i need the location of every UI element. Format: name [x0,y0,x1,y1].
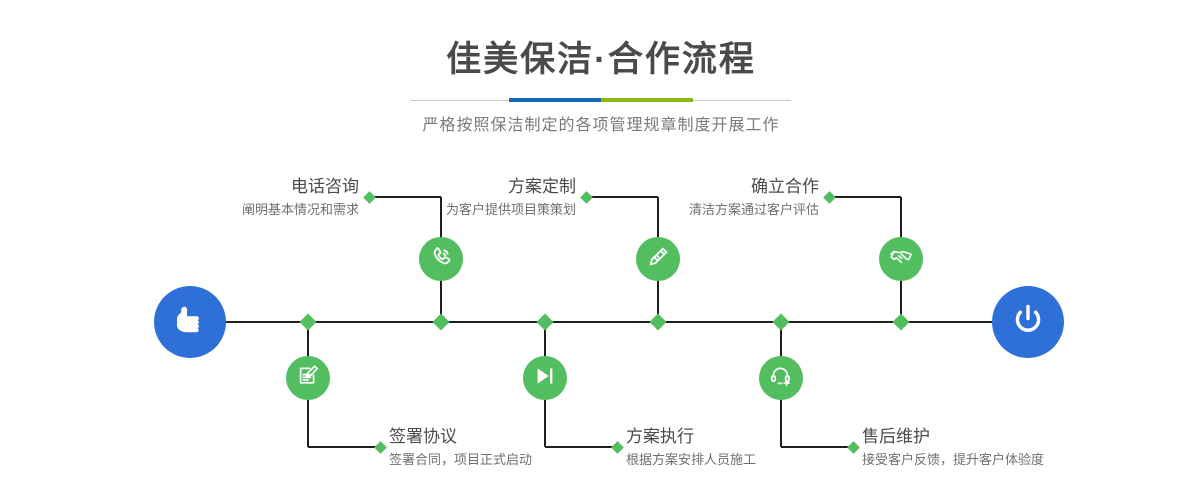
step-circle-top-1[interactable] [419,237,463,281]
label-diamond-top-3 [823,191,836,204]
page-subtitle: 严格按照保洁制定的各项管理规章制度开展工作 [0,106,1202,138]
step-circle-top-2[interactable] [636,237,680,281]
customer-support-icon [768,363,794,394]
step-description: 根据方案安排人员施工 [626,450,756,470]
step-description: 阐明基本情况和需求 [242,200,359,220]
pointing-hand-icon [170,300,210,345]
step-title: 售后维护 [862,426,1044,448]
step-label-bottom-1: 签署协议 签署合同，项目正式启动 [389,426,532,470]
timeline-diamond [433,314,450,331]
flow-start-node[interactable] [154,286,226,358]
play-execute-icon [532,363,558,394]
step-description: 接受客户反馈，提升客户体验度 [862,450,1044,470]
step-label-bottom-3: 售后维护 接受客户反馈，提升客户体验度 [862,426,1044,470]
timeline-diamond [773,314,790,331]
step-circle-top-3[interactable] [879,237,923,281]
step-label-top-3: 确立合作 清洁方案通过客户评估 [689,176,819,220]
step-title: 方案执行 [626,426,756,448]
step-title: 电话咨询 [242,176,359,198]
step-label-bottom-2: 方案执行 根据方案安排人员施工 [626,426,756,470]
step-title: 确立合作 [689,176,819,198]
step-circle-bottom-3[interactable] [759,356,803,400]
process-flow: 电话咨询 阐明基本情况和需求 方案定制 为客户提供项目策策划 确立合作 清洁方案… [0,160,1202,502]
pencil-edit-icon [645,244,671,275]
step-title: 签署协议 [389,426,532,448]
flow-end-node[interactable] [992,286,1064,358]
label-diamond-top-1 [363,191,376,204]
timeline-diamond [893,314,910,331]
document-sign-icon [295,363,321,394]
label-diamond-bottom-2 [611,441,624,454]
label-diamond-top-2 [580,191,593,204]
divider-segment-blue [509,98,601,102]
step-description: 签署合同，项目正式启动 [389,450,532,470]
timeline-diamond [300,314,317,331]
step-description: 清洁方案通过客户评估 [689,200,819,220]
label-diamond-bottom-3 [847,441,860,454]
handshake-icon [888,244,914,275]
step-circle-bottom-2[interactable] [523,356,567,400]
header: 佳美保洁·合作流程 严格按照保洁制定的各项管理规章制度开展工作 [0,0,1202,138]
timeline-diamond [537,314,554,331]
page-title: 佳美保洁·合作流程 [0,0,1202,82]
step-circle-bottom-1[interactable] [286,356,330,400]
step-title: 方案定制 [446,176,576,198]
flow-diagram-page: 佳美保洁·合作流程 严格按照保洁制定的各项管理规章制度开展工作 [0,0,1202,502]
power-icon [1008,300,1048,345]
timeline-diamond [650,314,667,331]
step-description: 为客户提供项目策策划 [446,200,576,220]
divider-segment-green [601,98,693,102]
step-label-top-2: 方案定制 为客户提供项目策策划 [446,176,576,220]
label-diamond-bottom-1 [374,441,387,454]
phone-call-icon [428,244,454,275]
title-divider [411,96,791,106]
step-label-top-1: 电话咨询 阐明基本情况和需求 [242,176,359,220]
